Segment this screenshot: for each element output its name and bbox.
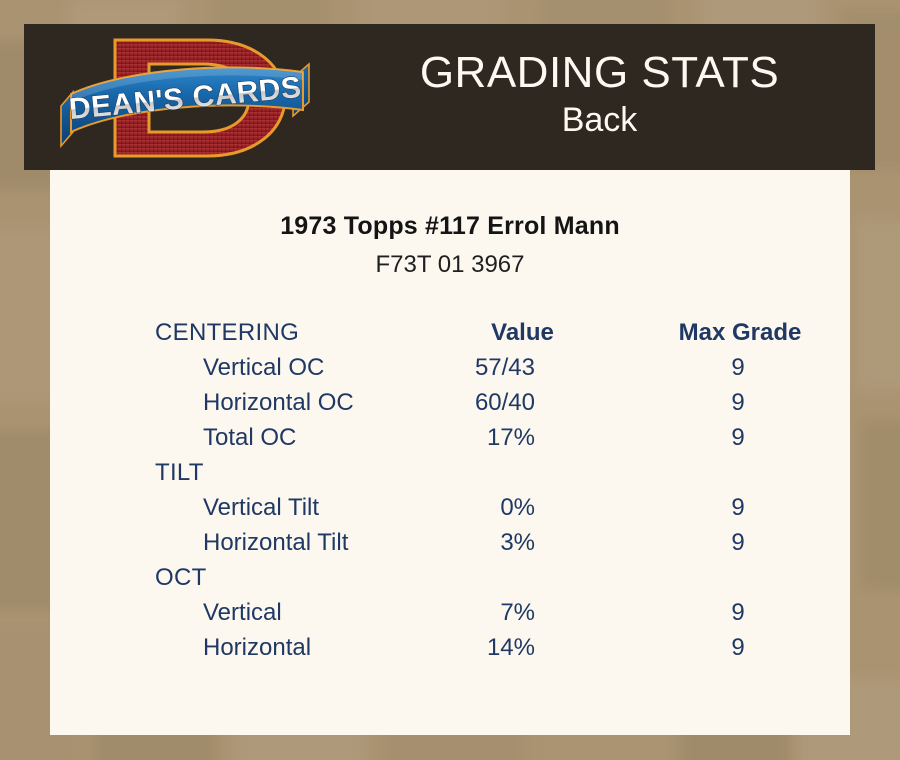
stat-label: Vertical Tilt	[50, 490, 415, 525]
stat-label: Vertical OC	[50, 350, 415, 385]
card-title: 1973 Topps #117 Errol Mann	[50, 212, 850, 241]
table-row: Horizontal14%9	[50, 630, 850, 665]
stat-label: Horizontal OC	[50, 385, 415, 420]
stat-label: Vertical	[50, 595, 415, 630]
column-header-value	[415, 560, 630, 595]
header-title-group: GRADING STATS Back	[324, 24, 875, 170]
column-header-value: Value	[415, 315, 630, 350]
stat-max-grade: 9	[630, 420, 850, 455]
stat-value: 17%	[415, 420, 630, 455]
section-title: TILT	[50, 455, 415, 490]
column-header-value	[415, 455, 630, 490]
stat-max-grade: 9	[630, 525, 850, 560]
stat-max-grade: 9	[630, 595, 850, 630]
table-row: Vertical OC57/439	[50, 350, 850, 385]
header-bar: DEAN'S CARDS GRADING STATS Back	[24, 24, 875, 170]
grading-stats-table: CENTERINGValueMax GradeVertical OC57/439…	[50, 315, 850, 665]
page-subtitle: Back	[562, 98, 638, 144]
table-row: Horizontal OC60/409	[50, 385, 850, 420]
stat-label: Horizontal Tilt	[50, 525, 415, 560]
stat-value: 60/40	[415, 385, 630, 420]
stat-value: 7%	[415, 595, 630, 630]
deans-cards-logo[interactable]: DEAN'S CARDS	[57, 28, 315, 168]
section-title: CENTERING	[50, 315, 415, 350]
column-header-max-grade	[630, 455, 850, 490]
page-title: GRADING STATS	[420, 50, 779, 96]
table-section-header: TILT	[50, 455, 850, 490]
stat-value: 14%	[415, 630, 630, 665]
table-row: Vertical Tilt0%9	[50, 490, 850, 525]
column-header-max-grade	[630, 560, 850, 595]
stat-max-grade: 9	[630, 350, 850, 385]
stat-max-grade: 9	[630, 630, 850, 665]
stat-value: 0%	[415, 490, 630, 525]
stat-value: 3%	[415, 525, 630, 560]
table-section-header: OCT	[50, 560, 850, 595]
table-row: Horizontal Tilt3%9	[50, 525, 850, 560]
content-panel: 1973 Topps #117 Errol Mann F73T 01 3967 …	[50, 170, 850, 735]
stat-label: Horizontal	[50, 630, 415, 665]
card-serial-number: F73T 01 3967	[50, 251, 850, 279]
column-header-max-grade: Max Grade	[630, 315, 850, 350]
stat-value: 57/43	[415, 350, 630, 385]
stat-max-grade: 9	[630, 385, 850, 420]
stat-max-grade: 9	[630, 490, 850, 525]
stat-label: Total OC	[50, 420, 415, 455]
table-row: Vertical7%9	[50, 595, 850, 630]
table-row: Total OC17%9	[50, 420, 850, 455]
table-section-header: CENTERINGValueMax Grade	[50, 315, 850, 350]
section-title: OCT	[50, 560, 415, 595]
